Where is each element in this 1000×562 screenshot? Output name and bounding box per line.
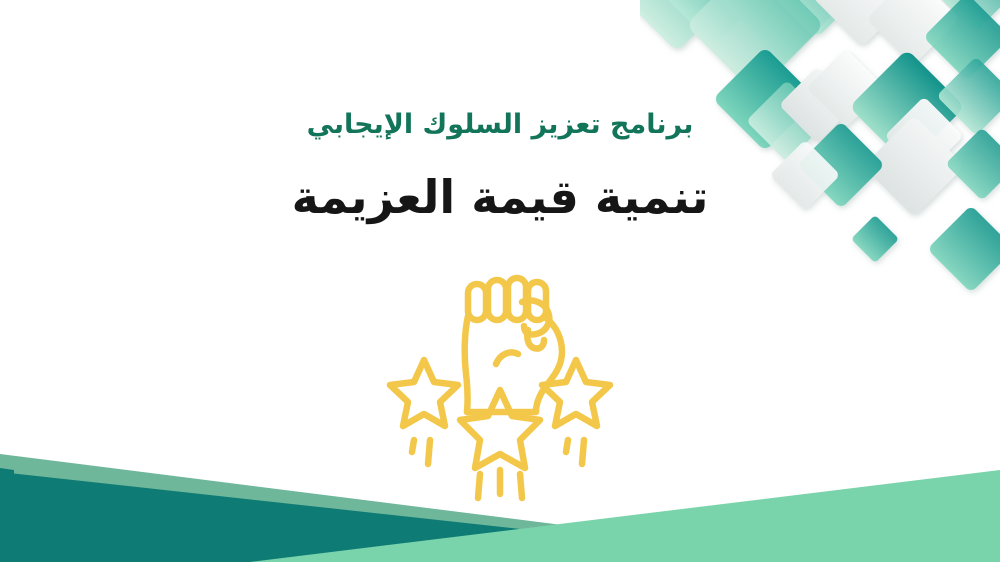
motion-trail-line: [566, 440, 568, 452]
presentation-slide: برنامج تعزيز السلوك الإيجابي تنمية قيمة …: [0, 0, 1000, 562]
motion-trail-line: [520, 474, 522, 498]
star-center: [460, 390, 540, 498]
motion-trail-line: [412, 440, 414, 452]
slide-text-block: برنامج تعزيز السلوك الإيجابي تنمية قيمة …: [0, 108, 1000, 225]
page-title: تنمية قيمة العزيمة: [0, 170, 1000, 225]
star-left: [390, 360, 458, 464]
program-subtitle: برنامج تعزيز السلوك الإيجابي: [0, 108, 1000, 142]
motion-trail-line: [428, 440, 430, 464]
motion-trail-line: [582, 440, 584, 464]
motion-trail-line: [478, 474, 480, 498]
raised-fist-with-three-stars-icon: [376, 272, 624, 508]
